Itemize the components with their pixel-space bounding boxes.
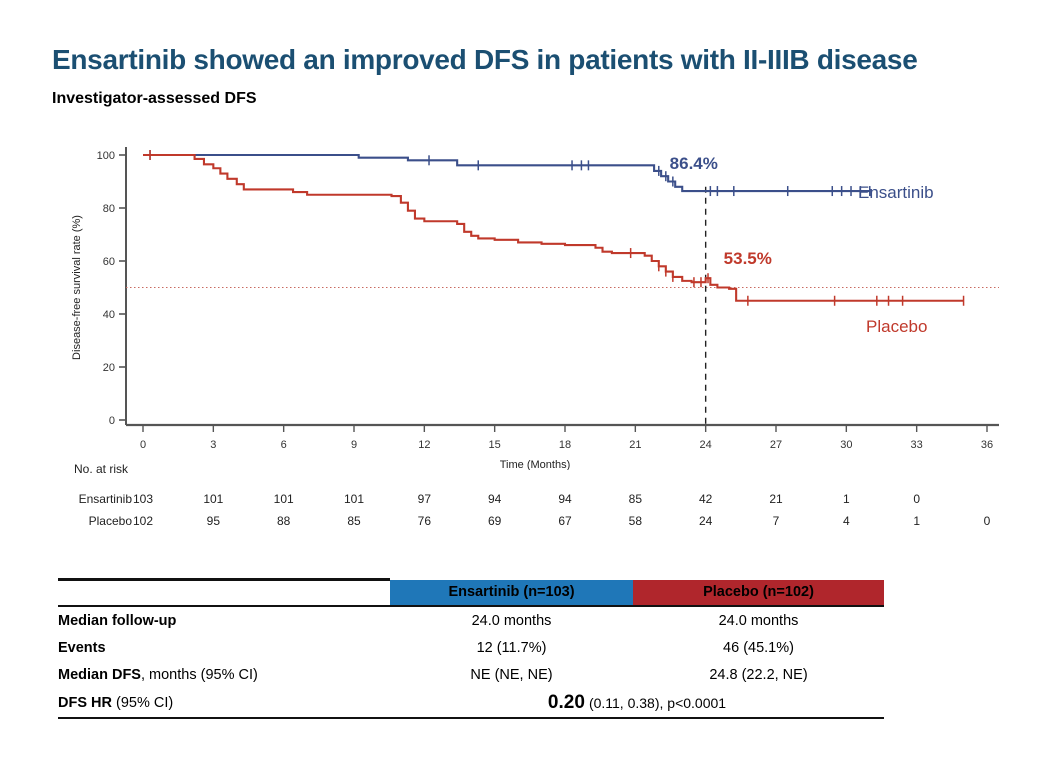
risk-value: 4: [826, 514, 866, 528]
risk-value: 94: [545, 492, 585, 506]
row-label-median-dfs: Median DFS, months (95% CI): [58, 661, 390, 688]
risk-row-label: Ensartinib: [42, 492, 132, 506]
x-tick-label: 6: [281, 439, 287, 451]
x-tick-label: 30: [840, 439, 852, 451]
risk-value: 102: [123, 514, 163, 528]
risk-value: 88: [264, 514, 304, 528]
kaplan-meier-chart: 0204060801000369121518212427303336Time (…: [0, 130, 1041, 470]
y-axis-title: Disease-free survival rate (%): [71, 215, 83, 360]
y-tick-label: 100: [97, 150, 115, 162]
row-label-events: Events: [58, 634, 390, 661]
annotation-ensartinib: 86.4%: [670, 154, 718, 173]
x-tick-label: 18: [559, 439, 571, 451]
cell-ensartinib-median-dfs: NE (NE, NE): [390, 661, 633, 688]
annotation-placebo: 53.5%: [724, 249, 772, 268]
risk-row-ensartinib: Ensartinib10310110110197949485422110: [0, 492, 1041, 510]
x-tick-label: 15: [489, 439, 501, 451]
x-tick-label: 27: [770, 439, 782, 451]
slide-canvas: Ensartinib showed an improved DFS in pat…: [0, 0, 1041, 779]
x-tick-label: 24: [700, 439, 712, 451]
risk-value: 1: [826, 492, 866, 506]
risk-value: 103: [123, 492, 163, 506]
y-tick-label: 80: [103, 203, 115, 215]
series-label-ensartinib: Ensartinib: [858, 183, 934, 202]
cell-placebo-events: 46 (45.1%): [633, 634, 884, 661]
row-label-rest: , months (95% CI): [141, 667, 258, 683]
row-label-bold: Events: [58, 640, 106, 656]
y-tick-label: 20: [103, 362, 115, 374]
risk-value: 85: [615, 492, 655, 506]
table-row: Median DFS, months (95% CI) NE (NE, NE) …: [58, 661, 884, 688]
y-tick-label: 0: [109, 415, 115, 427]
risk-row-placebo: Placebo10295888576696758247410: [0, 514, 1041, 532]
cell-placebo-median-follow-up: 24.0 months: [633, 606, 884, 634]
risk-value: 95: [193, 514, 233, 528]
row-label-bold: Median follow-up: [58, 613, 176, 629]
risk-value: 67: [545, 514, 585, 528]
results-header-row: Ensartinib (n=103) Placebo (n=102): [58, 580, 884, 607]
cell-ensartinib-events: 12 (11.7%): [390, 634, 633, 661]
x-tick-label: 21: [629, 439, 641, 451]
risk-value: 101: [334, 492, 374, 506]
risk-value: 101: [193, 492, 233, 506]
risk-row-label: Placebo: [42, 514, 132, 528]
table-row-hr: DFS HR (95% CI) 0.20 (0.11, 0.38), p<0.0…: [58, 688, 884, 718]
header-ensartinib: Ensartinib (n=103): [390, 580, 633, 607]
risk-value: 0: [967, 514, 1007, 528]
risk-value: 85: [334, 514, 374, 528]
risk-value: 58: [615, 514, 655, 528]
results-table-grid: Ensartinib (n=103) Placebo (n=102) Media…: [58, 578, 884, 719]
row-label-rest: (95% CI): [112, 695, 173, 711]
results-table: Ensartinib (n=103) Placebo (n=102) Media…: [58, 578, 884, 719]
risk-value: 21: [756, 492, 796, 506]
risk-value: 24: [686, 514, 726, 528]
x-tick-label: 33: [911, 439, 923, 451]
number-at-risk-table: No. at risk Ensartinib103101101101979494…: [0, 462, 1041, 557]
y-tick-label: 40: [103, 309, 115, 321]
curve-placebo: [143, 155, 964, 301]
risk-value: 0: [897, 492, 937, 506]
row-label-bold: Median DFS: [58, 667, 141, 683]
risk-value: 1: [897, 514, 937, 528]
risk-value: 7: [756, 514, 796, 528]
risk-value: 42: [686, 492, 726, 506]
y-tick-label: 60: [103, 256, 115, 268]
page-subtitle: Investigator-assessed DFS: [52, 90, 257, 108]
x-tick-label: 0: [140, 439, 146, 451]
x-tick-label: 9: [351, 439, 357, 451]
risk-table-title: No. at risk: [74, 462, 128, 476]
cell-ensartinib-median-follow-up: 24.0 months: [390, 606, 633, 634]
series-label-placebo: Placebo: [866, 317, 927, 336]
risk-value: 97: [404, 492, 444, 506]
x-tick-label: 36: [981, 439, 993, 451]
table-row: Events 12 (11.7%) 46 (45.1%): [58, 634, 884, 661]
cell-placebo-median-dfs: 24.8 (22.2, NE): [633, 661, 884, 688]
hr-ci-pvalue: (0.11, 0.38), p<0.0001: [589, 695, 726, 711]
row-label-bold: DFS HR: [58, 695, 112, 711]
risk-value: 76: [404, 514, 444, 528]
curve-ensartinib: [143, 155, 870, 191]
risk-value: 101: [264, 492, 304, 506]
header-placebo: Placebo (n=102): [633, 580, 884, 607]
x-tick-label: 12: [418, 439, 430, 451]
risk-value: 69: [475, 514, 515, 528]
header-blank-cell: [58, 580, 390, 607]
cell-dfs-hr-value: 0.20 (0.11, 0.38), p<0.0001: [390, 688, 884, 718]
row-label-median-follow-up: Median follow-up: [58, 606, 390, 634]
page-title: Ensartinib showed an improved DFS in pat…: [52, 44, 1002, 76]
chart-svg: 0204060801000369121518212427303336Time (…: [0, 130, 1041, 470]
hr-point-estimate: 0.20: [548, 692, 585, 713]
row-label-dfs-hr: DFS HR (95% CI): [58, 688, 390, 718]
table-row: Median follow-up 24.0 months 24.0 months: [58, 606, 884, 634]
x-tick-label: 3: [210, 439, 216, 451]
risk-value: 94: [475, 492, 515, 506]
